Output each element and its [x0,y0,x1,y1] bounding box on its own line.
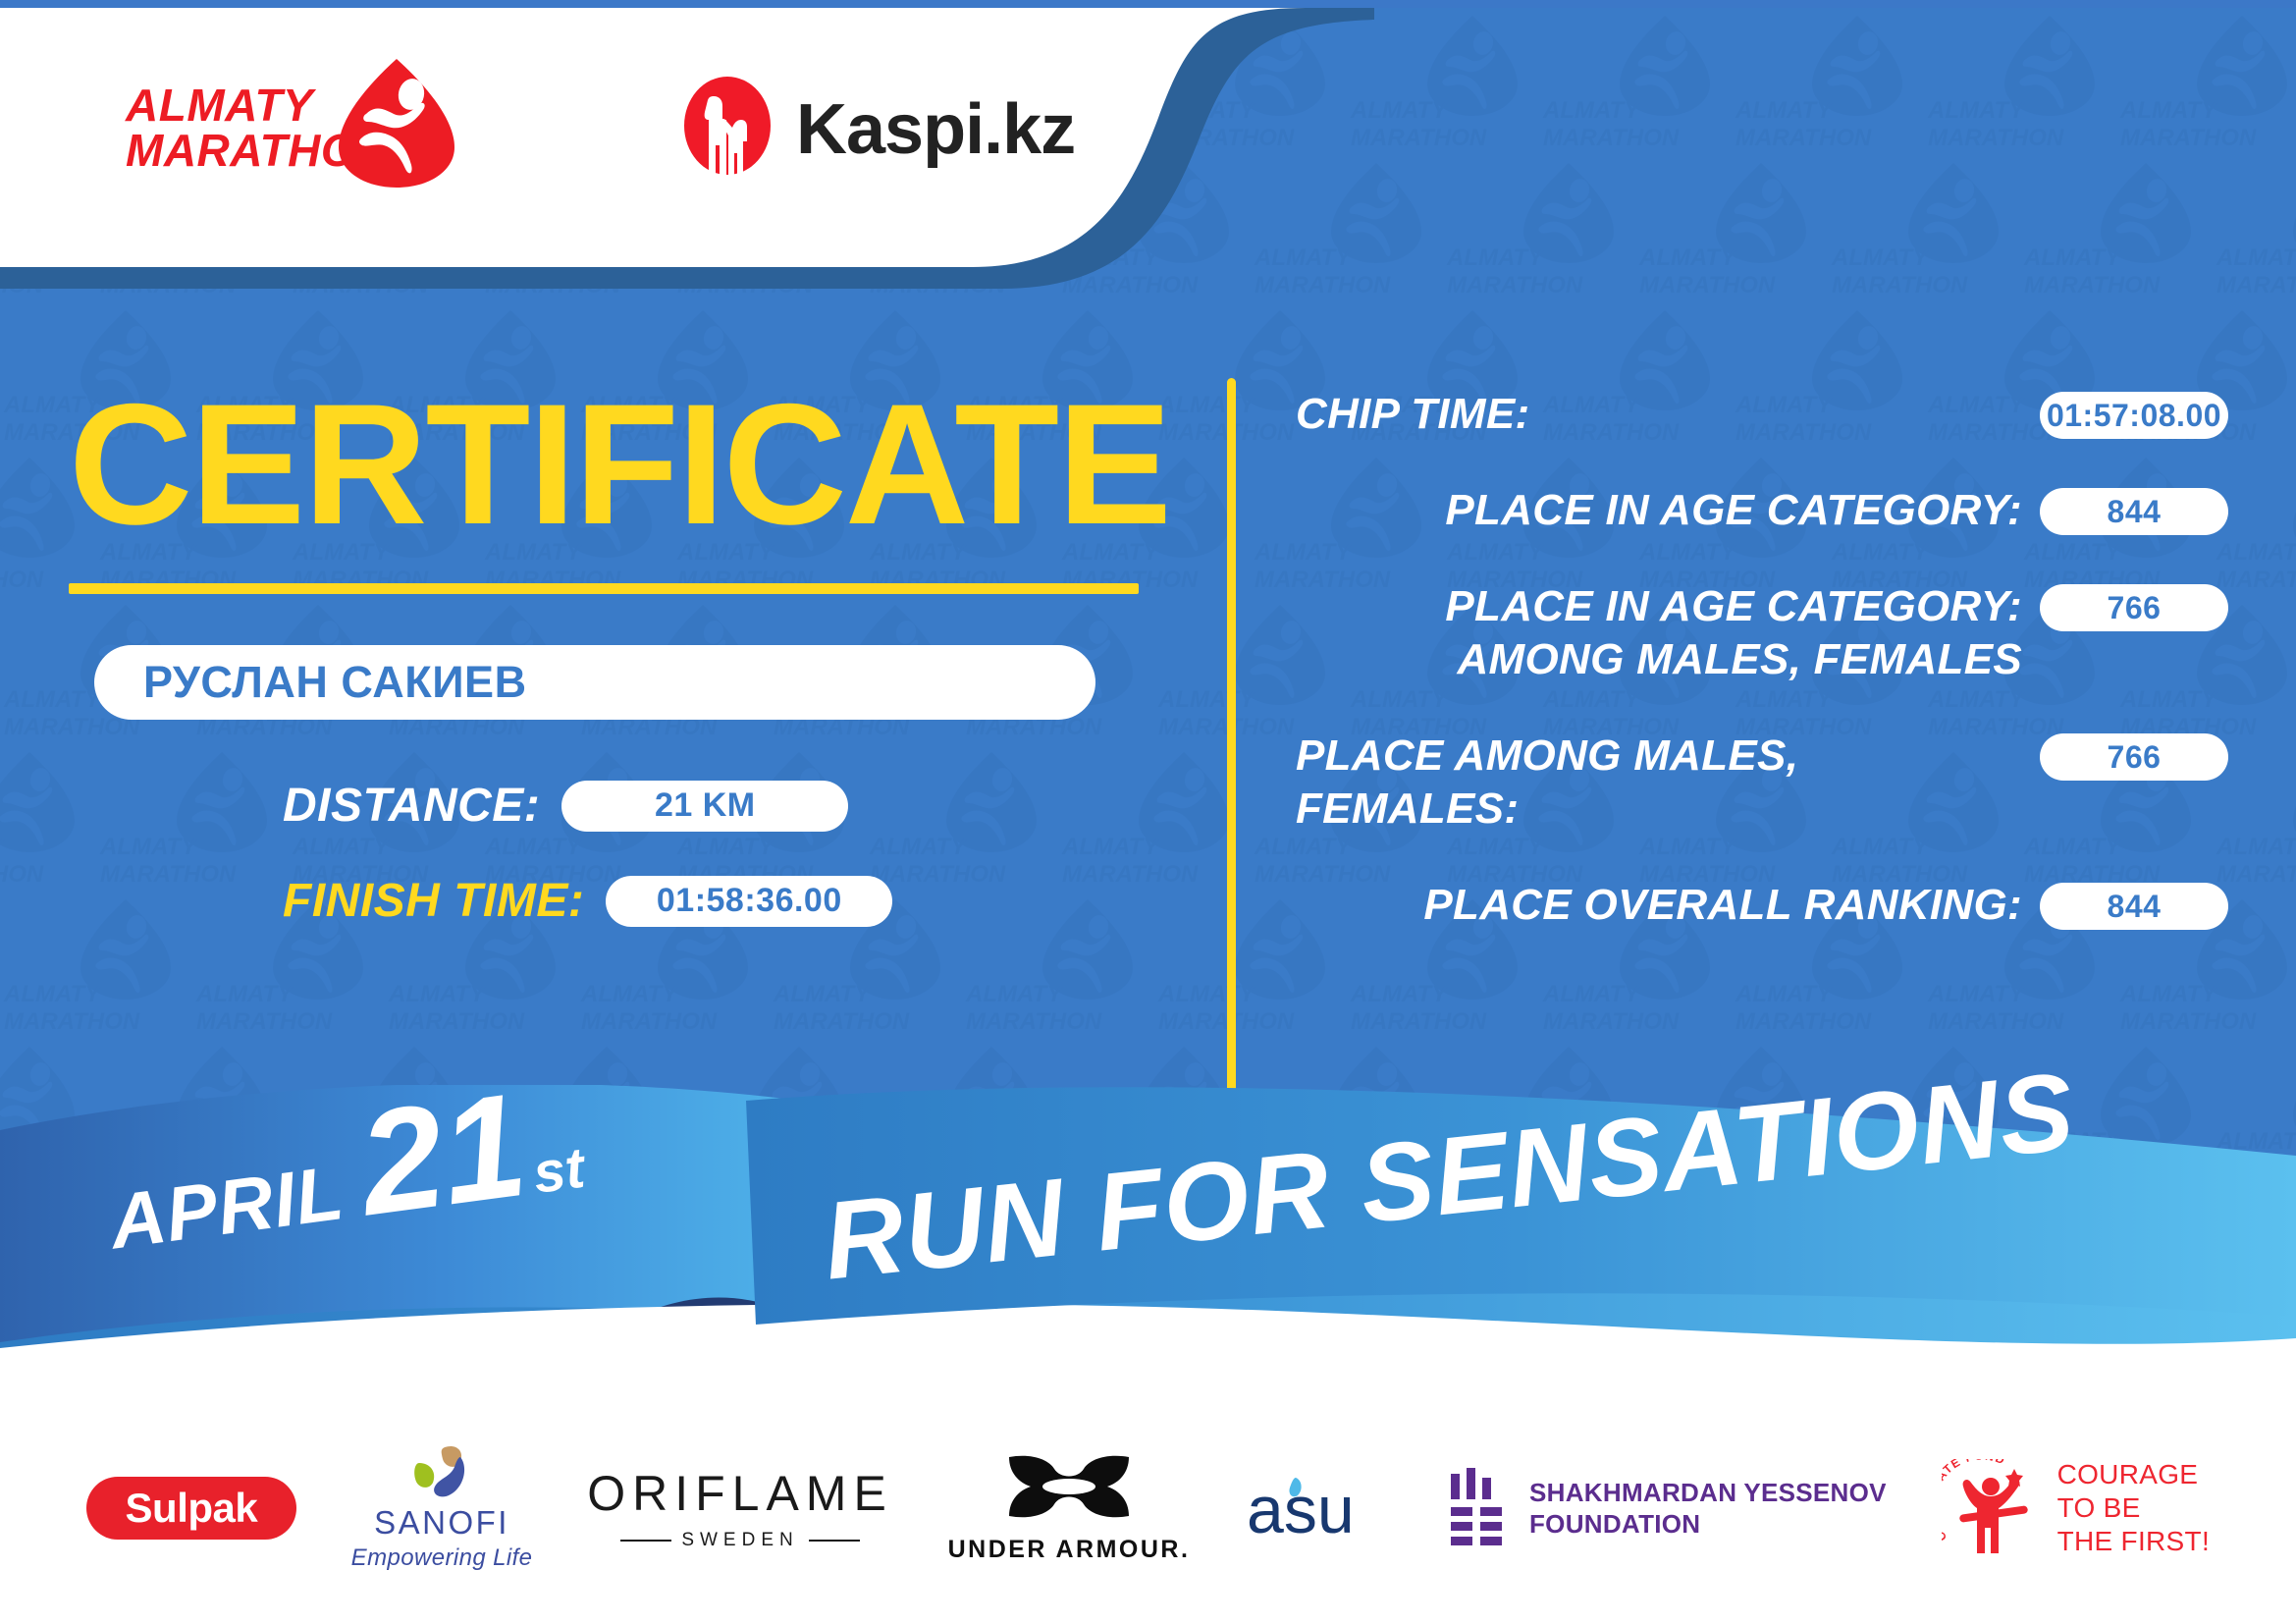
oriflame-wordmark: ORIFLAME [587,1465,893,1522]
svg-text:ALMATY: ALMATY [1350,981,1449,1007]
svg-text:ALMATY: ALMATY [1927,981,2026,1007]
participant-name-field: РУСЛАН САКИЕВ [94,645,1095,720]
svg-text:ALMATY: ALMATY [1446,244,1545,271]
stat-label-line2: FEMALES: [1296,783,2022,836]
watermark-tile: ALMATYMARATHON [1251,155,1443,302]
sulpak-wordmark: Sulpak [126,1485,258,1532]
svg-text:MARATHON: MARATHON [1543,125,1680,151]
stat-value-pill: 766 [2040,584,2228,631]
courage-fund-icon: CORPORATE FUND [1942,1459,2044,1557]
watermark-tile: ALMATYMARATHON [1635,155,1828,302]
svg-text:MARATHON: MARATHON [2024,272,2161,298]
watermark-tile: ALMATYMARATHON [1443,155,1635,302]
title-underline [69,583,1139,594]
watermark-tile: ALMATYMARATHON [2020,155,2213,302]
svg-text:ALMATY: ALMATY [1735,981,1834,1007]
sponsor-sanofi: SANOFI Empowering Life [351,1445,533,1572]
svg-text:MARATHON: MARATHON [1735,1008,1872,1035]
finish-time-value: 01:58:36.00 [657,882,842,920]
stat-value: 766 [2108,590,2162,626]
svg-text:ALMATY: ALMATY [1927,97,2026,124]
svg-text:MARATHON: MARATHON [1928,1008,2064,1035]
column-divider [1227,378,1236,1105]
left-column: CERTIFICATE РУСЛАН САКИЕВ DISTANCE: 21 K… [59,383,1217,928]
oriflame-rule-right [809,1540,860,1542]
distance-label: DISTANCE: [283,779,540,833]
svg-text:ALMATY: ALMATY [388,981,487,1007]
svg-text:MARATHON: MARATHON [2216,272,2296,298]
certificate-page: ALMATYMARATHONALMATYMARATHONALMATYMARATH… [0,0,2296,1624]
stat-label: CHIP TIME: [1296,388,2040,441]
stat-value-pill: 01:57:08.00 [2040,392,2228,439]
svg-text:ALMATY: ALMATY [580,981,679,1007]
courage-line2: TO BE [2057,1491,2210,1525]
finish-time-value-pill: 01:58:36.00 [606,876,892,927]
stat-row-place-among-gender: PLACE AMONG MALES, FEMALES: 766 [1296,730,2228,836]
svg-text:MARATHON: MARATHON [389,1008,525,1035]
finish-time-label: FINISH TIME: [283,874,584,928]
watermark-tile: ALMATYMARATHON [1924,8,2116,155]
svg-text:MARATHON: MARATHON [1351,1008,1487,1035]
svg-text:MARATHON: MARATHON [1543,1008,1680,1035]
distance-value-pill: 21 KM [561,781,848,832]
almaty-marathon-line1: ALMATY [126,82,369,128]
stat-label-line1: PLACE IN AGE CATEGORY: [1296,580,2022,633]
svg-text:MARATHON: MARATHON [0,861,44,888]
stat-row-place-overall: PLACE OVERALL RANKING: 844 [1296,879,2228,932]
svg-text:ALMATY: ALMATY [2216,244,2296,271]
watermark-tile: ALMATYMARATHON [1347,8,1539,155]
stat-row-place-age-category: PLACE IN AGE CATEGORY: 844 [1296,484,2228,537]
svg-text:MARATHON: MARATHON [2120,1008,2257,1035]
distance-value: 21 KM [655,786,756,825]
stat-label: PLACE OVERALL RANKING: [1296,879,2040,932]
stat-label: PLACE IN AGE CATEGORY: AMONG MALES, FEMA… [1296,580,2040,686]
stat-row-chip-time: CHIP TIME: 01:57:08.00 [1296,388,2228,441]
oriflame-rule-left [620,1540,671,1542]
top-accent-rule [0,0,2296,8]
courage-line1: COURAGE [2057,1458,2210,1491]
sponsor-sulpak: Sulpak [86,1477,296,1540]
stat-value: 844 [2108,889,2162,925]
svg-text:ALMATY: ALMATY [2119,97,2218,124]
asu-logo-icon: asu [1245,1464,1392,1552]
kaspi-logo: Kaspi.kz [680,71,1075,189]
svg-text:MARATHON: MARATHON [966,1008,1102,1035]
svg-text:ALMATY: ALMATY [773,981,872,1007]
stat-label: PLACE IN AGE CATEGORY: [1296,484,2040,537]
svg-text:ALMATY: ALMATY [1638,244,1737,271]
oriflame-country: SWEDEN [681,1530,798,1551]
svg-text:ALMATY: ALMATY [3,981,102,1007]
runner-drop-icon [337,57,456,189]
stat-value-pill: 844 [2040,488,2228,535]
svg-text:MARATHON: MARATHON [2216,567,2296,593]
yessenov-line2: FOUNDATION [1529,1508,1887,1540]
svg-text:MARATHON: MARATHON [581,1008,718,1035]
svg-text:MARATHON: MARATHON [1255,272,1391,298]
svg-text:ALMATY: ALMATY [1542,97,1641,124]
oriflame-sub: SWEDEN [620,1530,859,1551]
stat-label-line2: AMONG MALES, FEMALES [1296,633,2022,686]
stat-value-pill: 766 [2040,733,2228,781]
svg-text:MARATHON: MARATHON [1351,125,1487,151]
svg-text:MARATHON: MARATHON [4,1008,140,1035]
svg-text:ALMATY: ALMATY [1254,244,1353,271]
svg-text:ALMATY: ALMATY [2023,244,2122,271]
svg-text:MARATHON: MARATHON [1928,125,2064,151]
yessenov-line1: SHAKHMARDAN YESSENOV [1529,1477,1887,1508]
svg-text:ALMATY: ALMATY [1542,981,1641,1007]
svg-text:ALMATY: ALMATY [965,981,1064,1007]
stat-label: PLACE AMONG MALES, FEMALES: [1296,730,2040,836]
svg-text:ALMATY: ALMATY [195,981,294,1007]
svg-text:MARATHON: MARATHON [0,567,44,593]
svg-text:MARATHON: MARATHON [1447,272,1583,298]
watermark-tile: ALMATYMARATHON [1828,155,2020,302]
watermark-tile: ALMATYMARATHON [2213,155,2296,302]
finish-time-row: FINISH TIME: 01:58:36.00 [283,874,1217,928]
sanofi-wordmark: SANOFI [374,1504,509,1542]
kaspi-people-icon [680,77,774,183]
event-day: 21 [353,1085,531,1223]
sponsor-oriflame: ORIFLAME SWEDEN [587,1465,893,1551]
watermark-tile: ALMATYMARATHON [1539,8,1732,155]
svg-text:MARATHON: MARATHON [1735,125,1872,151]
yessenov-mark-icon [1447,1468,1508,1548]
sponsor-under-armour: UNDER ARMOUR. [948,1453,1191,1564]
yessenov-wordmark: SHAKHMARDAN YESSENOV FOUNDATION [1529,1477,1887,1540]
courage-wordmark: COURAGE TO BE THE FIRST! [2057,1458,2210,1558]
sanofi-mark-icon [409,1445,474,1500]
event-day-suffix: st [529,1135,588,1207]
sanofi-tagline: Empowering Life [351,1544,533,1572]
svg-text:ALMATY: ALMATY [1831,244,1930,271]
page-title: CERTIFICATE [59,383,1217,548]
stats-column: CHIP TIME: 01:57:08.00 PLACE IN AGE CATE… [1296,388,2228,975]
courage-line3: THE FIRST! [2057,1525,2210,1558]
sponsor-yessenov-foundation: SHAKHMARDAN YESSENOV FOUNDATION [1447,1468,1887,1548]
svg-text:MARATHON: MARATHON [196,1008,333,1035]
svg-text:ALMATY: ALMATY [1735,97,1834,124]
sulpak-logo: Sulpak [86,1477,296,1540]
distance-row: DISTANCE: 21 KM [283,779,1217,833]
under-armour-wordmark: UNDER ARMOUR. [948,1536,1191,1564]
svg-text:ALMATY: ALMATY [2119,981,2218,1007]
stat-row-place-age-category-gender: PLACE IN AGE CATEGORY: AMONG MALES, FEMA… [1296,580,2228,686]
watermark-tile: ALMATYMARATHON [2116,8,2296,155]
sponsor-strip: Sulpak SANOFI Empowering Life ORIFLAME S… [0,1392,2296,1624]
svg-text:ALMATY: ALMATY [1350,97,1449,124]
svg-text:MARATHON: MARATHON [1832,272,1968,298]
under-armour-icon [1005,1453,1133,1530]
svg-text:MARATHON: MARATHON [774,1008,910,1035]
participant-name-value: РУСЛАН САКИЕВ [143,657,527,708]
sponsor-asu: asu [1245,1464,1392,1552]
almaty-marathon-wordmark: ALMATY MARATHON [126,82,369,173]
svg-text:MARATHON: MARATHON [2120,125,2257,151]
almaty-marathon-line2: MARATHON [126,128,369,173]
stat-value-pill: 844 [2040,883,2228,930]
almaty-marathon-logo: ALMATY MARATHON [126,57,450,199]
stat-label-line1: PLACE AMONG MALES, [1296,730,2022,783]
svg-text:ALMATY: ALMATY [1157,981,1256,1007]
svg-text:MARATHON: MARATHON [1639,272,1776,298]
stat-value: 844 [2108,494,2162,530]
sponsor-courage-fund: CORPORATE FUND COURAGE TO BE THE FIRST! [1942,1458,2210,1558]
stat-value: 01:57:08.00 [2047,398,2221,434]
stat-value: 766 [2108,739,2162,776]
watermark-tile: ALMATYMARATHON [1732,8,1924,155]
svg-text:MARATHON: MARATHON [2216,861,2296,888]
kaspi-wordmark: Kaspi.kz [796,94,1075,165]
